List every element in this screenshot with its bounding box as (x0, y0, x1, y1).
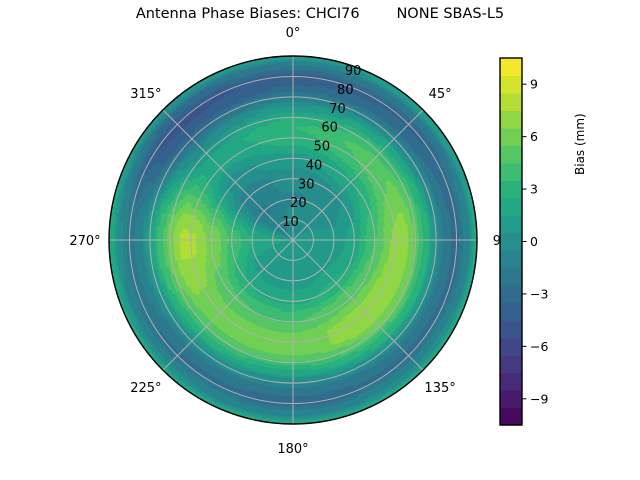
azimuth-tick-label-180: 180° (277, 442, 308, 457)
radial-tick-label-70: 70 (329, 102, 346, 117)
colorbar-band (500, 128, 522, 146)
radial-tick-label-80: 80 (337, 83, 354, 98)
azimuth-tick-label-0: 0° (286, 26, 301, 41)
colorbar-band (500, 285, 522, 303)
radial-tick-label-20: 20 (290, 196, 307, 211)
colorbar-band (500, 215, 522, 233)
colorbar-band (500, 180, 522, 198)
colorbar-band (500, 58, 522, 76)
colorbar-band (500, 198, 522, 216)
colorbar-band (500, 303, 522, 321)
radial-tick-label-10: 10 (282, 215, 299, 230)
azimuth-tick-label-45: 45° (429, 87, 452, 102)
colorbar-tick-label-6: 6 (530, 129, 538, 144)
colorbar-band (500, 75, 522, 93)
colorbar-band (500, 250, 522, 268)
radial-tick-label-40: 40 (306, 158, 323, 173)
polar-grid (109, 56, 477, 424)
azimuth-tick-label-225: 225° (130, 381, 161, 396)
radial-tick-label-90: 90 (345, 64, 362, 79)
radial-tick-label-60: 60 (321, 121, 338, 136)
azimuth-tick-label-135: 135° (424, 381, 455, 396)
colorbar-tick-label-9: 9 (530, 77, 538, 92)
colorbar-tick-label--3: −3 (530, 286, 548, 301)
colorbar-tick-label--9: −9 (530, 391, 548, 406)
colorbar-band (500, 268, 522, 286)
colorbar-band (500, 233, 522, 251)
colorbar-tick-label-0: 0 (530, 234, 538, 249)
colorbar-tick-label-3: 3 (530, 182, 538, 197)
colorbar-tick-label--6: −6 (530, 339, 548, 354)
polar-plot: 1020304050607080900°45°90135°180°225°270… (0, 0, 640, 480)
colorbar[interactable]: 9630−3−6−9 (500, 58, 548, 426)
polar-contour-svg: 1020304050607080900°45°90135°180°225°270… (0, 0, 640, 480)
radial-tick-label-50: 50 (314, 140, 331, 155)
figure-canvas: Antenna Phase Biases: CHCI76 NONE SBAS-L… (0, 0, 640, 480)
azimuth-tick-label-315: 315° (130, 87, 161, 102)
radial-tick-label-30: 30 (298, 177, 315, 192)
colorbar-band (500, 338, 522, 356)
azimuth-tick-label-270: 270° (69, 234, 100, 249)
colorbar-band (500, 110, 522, 128)
colorbar-band (500, 390, 522, 408)
colorbar-band (500, 145, 522, 163)
colorbar-band (500, 163, 522, 181)
colorbar-axis-label: Bias (mm) (573, 113, 587, 175)
colorbar-band (500, 373, 522, 391)
colorbar-band (500, 93, 522, 111)
colorbar-band (500, 408, 522, 426)
colorbar-band (500, 355, 522, 373)
colorbar-band (500, 320, 522, 338)
